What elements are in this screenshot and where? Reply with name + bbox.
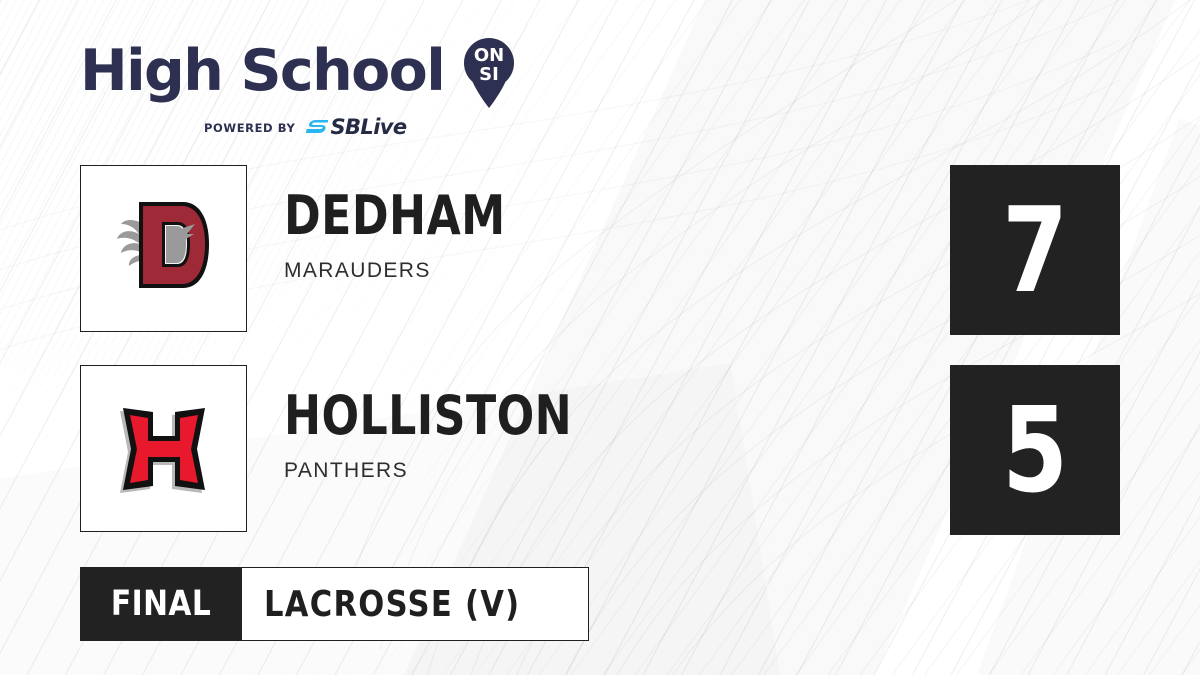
team-name-block: HOLLISTON PANTHERS [284, 389, 635, 483]
sblive-wordmark: SBLive [330, 117, 406, 138]
holliston-h-logo-icon [99, 384, 229, 514]
team-mascot: MARAUDERS [284, 259, 554, 283]
team-score-box: 7 [950, 165, 1120, 335]
team-score-box: 5 [950, 365, 1120, 535]
powered-by-row: POWERED BY SBLive [204, 117, 600, 138]
team-row-away: HOLLISTON PANTHERS 5 [80, 365, 1200, 535]
brand-title: High School [80, 43, 444, 100]
team-score: 7 [1002, 191, 1068, 309]
game-status-bar: FINAL LACROSSE (V) [80, 567, 589, 641]
team-mascot: PANTHERS [284, 459, 635, 483]
sblive-s-icon [304, 118, 328, 138]
game-state-badge: FINAL [80, 567, 242, 641]
team-name-block: DEDHAM MARAUDERS [284, 189, 554, 283]
team-logo-card [80, 365, 247, 532]
team-name: DEDHAM [284, 189, 506, 243]
brand-logo-row: High School ON SI [80, 34, 600, 108]
game-state-label: FINAL [111, 584, 211, 624]
dedham-d-logo-icon [99, 184, 229, 314]
sblive-logo: SBLive [304, 117, 406, 138]
team-row-home: DEDHAM MARAUDERS 7 [80, 165, 1200, 335]
sport-label-box: LACROSSE (V) [242, 567, 589, 641]
badge-top-label: ON [474, 45, 504, 66]
badge-bottom-label: SI [479, 64, 499, 85]
team-logo-card [80, 165, 247, 332]
scoreboard-graphic: High School ON SI POWERED BY SBLive [0, 0, 1200, 675]
brand-header: High School ON SI POWERED BY SBLive [80, 34, 600, 138]
team-score: 5 [1002, 391, 1068, 509]
on-si-pin-icon: ON SI [458, 34, 520, 108]
powered-by-label: POWERED BY [204, 121, 295, 135]
sport-label: LACROSSE (V) [264, 584, 520, 625]
team-name: HOLLISTON [284, 389, 572, 443]
